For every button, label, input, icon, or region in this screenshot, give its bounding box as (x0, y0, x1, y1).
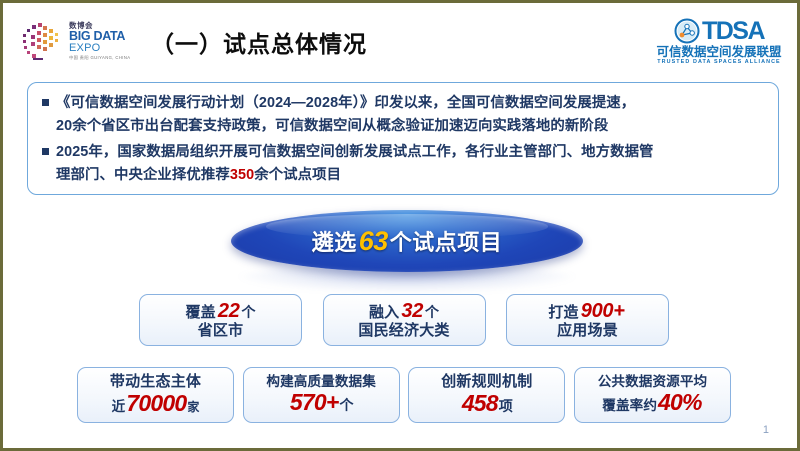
stat-unit: 项 (499, 398, 513, 414)
stat-unit: 个 (242, 304, 256, 320)
stat-number: 70000 (125, 390, 187, 416)
stat-label: 覆盖 (185, 304, 215, 321)
banner-suffix: 个试点项目 (390, 230, 503, 255)
bullet-square-icon (42, 99, 49, 106)
stat-line-main: 覆盖22个 (185, 301, 255, 323)
bullet-2-line-1: 2025年，国家数据局组织开展可信数据空间创新发展试点工作，各行业主管部门、地方… (56, 144, 654, 160)
highlight-banner: 遴选63个试点项目 (231, 210, 583, 272)
slide: 数博会 BIG DATA EXPO 中国 贵阳 GUIYANG, CHINA （… (0, 0, 800, 451)
expo-logo-expo: EXPO (69, 43, 130, 54)
tdsa-chinese-name: 可信数据空间发展联盟 (651, 45, 787, 59)
expo-logo-cn: 数博会 (69, 22, 130, 30)
expo-swirl-icon (21, 20, 65, 62)
big-data-expo-logo: 数博会 BIG DATA EXPO 中国 贵阳 GUIYANG, CHINA (21, 19, 149, 63)
network-node-icon (674, 18, 700, 44)
bullet-item-2-text: 2025年，国家数据局组织开展可信数据空间创新发展试点工作，各行业主管部门、地方… (56, 141, 654, 187)
bullet-item-1-text: 《可信数据空间发展行动计划（2024—2028年）》印发以来，全国可信数据空间发… (56, 92, 635, 138)
stat-label: 融入 (369, 304, 399, 321)
banner-number: 63 (357, 226, 390, 256)
page-title: （一）试点总体情况 (151, 25, 367, 59)
bullet-square-icon (42, 148, 49, 155)
bullet-2-line-2-a: 理部门、中央企业择优推荐 (56, 167, 230, 183)
stat-unit: 家 (187, 400, 199, 414)
tdsa-english-name: TRUSTED DATA SPACES ALLIANCE (651, 59, 787, 66)
stat-box-ecosystem-entities: 带动生态主体 近70000家 (77, 367, 234, 423)
bullet-2-line-2-b: 余个试点项目 (254, 167, 341, 183)
stat-box-economy-categories: 融入32个 国民经济大类 (323, 294, 486, 346)
stat-sublabel: 省区市 (198, 323, 244, 339)
bullet-item-1: 《可信数据空间发展行动计划（2024—2028年）》印发以来，全国可信数据空间发… (42, 92, 764, 138)
stat-sublabel: 国民经济大类 (358, 323, 449, 339)
stat-number: 900+ (579, 300, 627, 322)
stat-number: 570+ (289, 389, 340, 415)
stat-label: 打造 (548, 304, 578, 321)
stat-toplabel: 创新规则机制 (441, 374, 532, 390)
bullet-1-line-2: 20余个省区市出台配套支持政策，可信数据空间从概念验证加速迈向实践落地的新阶段 (56, 118, 608, 134)
bullet-1-line-1: 《可信数据空间发展行动计划（2024—2028年）》印发以来，全国可信数据空间发… (56, 95, 635, 111)
slide-header: 数博会 BIG DATA EXPO 中国 贵阳 GUIYANG, CHINA （… (3, 3, 797, 75)
stat-prefix: 覆盖率约 (602, 398, 657, 413)
stat-prefix: 近 (112, 399, 126, 414)
bullet-panel: 《可信数据空间发展行动计划（2024—2028年）》印发以来，全国可信数据空间发… (27, 82, 779, 195)
stat-box-innovative-rules: 创新规则机制 458项 (408, 367, 565, 423)
stat-line-main: 覆盖率约40% (602, 390, 702, 415)
stat-sublabel: 应用场景 (557, 323, 618, 339)
tdsa-logo: TDSA 可信数据空间发展联盟 TRUSTED DATA SPACES ALLI… (651, 17, 787, 67)
stat-line-main: 融入32个 (369, 301, 439, 323)
stat-line-main: 458项 (461, 391, 513, 416)
stat-line-main: 570+个 (289, 390, 354, 415)
stat-toplabel: 带动生态主体 (110, 374, 201, 390)
stat-line-main: 近70000家 (112, 391, 200, 416)
stat-toplabel: 构建高质量数据集 (266, 375, 376, 390)
stat-box-public-data-coverage: 公共数据资源平均 覆盖率约40% (574, 367, 731, 423)
stat-number: 458 (461, 390, 499, 416)
stat-number: 32 (399, 300, 425, 322)
stat-box-provinces: 覆盖22个 省区市 (139, 294, 302, 346)
stat-box-high-quality-datasets: 构建高质量数据集 570+个 (243, 367, 400, 423)
banner-prefix: 遴选 (312, 230, 357, 255)
stat-box-application-scenarios: 打造900+ 应用场景 (506, 294, 669, 346)
expo-logo-sub: 中国 贵阳 GUIYANG, CHINA (69, 56, 130, 60)
stat-unit: 个 (425, 304, 439, 320)
stat-line-main: 打造900+ (548, 301, 626, 323)
tdsa-wordmark: TDSA (702, 18, 764, 44)
stat-toplabel: 公共数据资源平均 (598, 375, 708, 390)
stats-row-lower: 带动生态主体 近70000家 构建高质量数据集 570+个 创新规则机制 458… (77, 367, 731, 423)
stats-row-upper: 覆盖22个 省区市 融入32个 国民经济大类 打造900+ 应用场景 (139, 294, 669, 346)
bullet-2-highlight-number: 350 (230, 167, 254, 183)
stat-unit: 个 (339, 397, 353, 413)
stat-number: 22 (216, 300, 242, 322)
banner-text: 遴选63个试点项目 (312, 225, 503, 257)
page-number: 1 (763, 424, 769, 436)
stat-number: 40% (657, 389, 703, 415)
bullet-item-2: 2025年，国家数据局组织开展可信数据空间创新发展试点工作，各行业主管部门、地方… (42, 141, 764, 187)
